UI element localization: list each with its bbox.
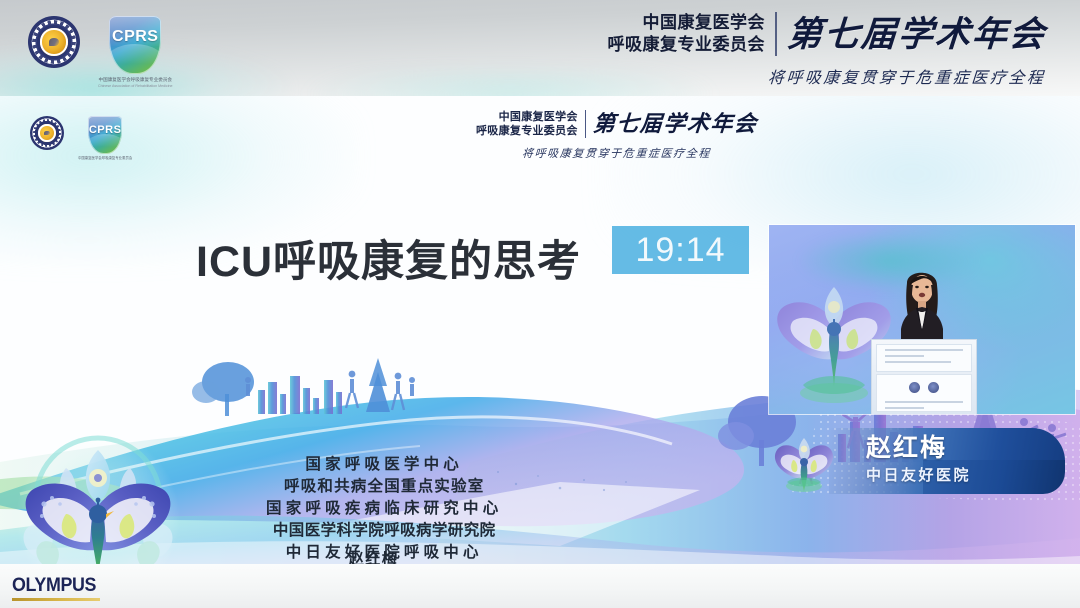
- header-logo-caption: 中国康复医学会呼吸康复专业委员会 Chinese Association of …: [98, 77, 173, 88]
- podium-seal-icon: [928, 382, 939, 393]
- page-header: CPRS 中国康复医学会呼吸康复专业委员会 Chinese Associatio…: [0, 0, 1080, 96]
- podium-text-line: [885, 349, 963, 351]
- live-video-feed[interactable]: [769, 225, 1075, 414]
- conference-divider: [775, 12, 777, 56]
- slide-seal-core: [38, 124, 56, 142]
- time-value: 19:14: [635, 233, 725, 267]
- speaker-badge-peacock-logo: [773, 430, 835, 492]
- slide-conference-lockup: 中国康复医学会 呼吸康复专业委员会 第七届学术年会 将呼吸康复贯穿于危重症医疗全…: [476, 110, 758, 161]
- plume-eye-core: [94, 474, 102, 482]
- tree-canopy-right-2: [718, 422, 754, 450]
- speaker-badge-name: 赵红梅: [866, 436, 947, 461]
- peacock-crest-tip: [96, 498, 101, 503]
- podium-seal-icon: [909, 382, 920, 393]
- conference-main-title: 第七届学术年会: [786, 17, 1047, 52]
- peacock-lotus-logo: [14, 428, 182, 564]
- page-footer: OLYMPUS: [0, 564, 1080, 608]
- olympus-wordmark: OLYMPUS: [12, 576, 96, 595]
- conference-title-row: 中国康复医学会 呼吸康复专业委员会 第七届学术年会: [607, 12, 1046, 56]
- podium-body-panel: [876, 374, 972, 412]
- slide-conference-organization: 中国康复医学会 呼吸康复专业委员会: [476, 110, 578, 139]
- slide-cprs-shield-logo: CPRS: [88, 116, 122, 154]
- olympus-underline-bar: [12, 598, 100, 601]
- podium-text-line: [885, 407, 924, 409]
- affiliation-line: 中国医学科学院呼吸病学研究院: [266, 520, 502, 542]
- header-logo-caption-cn: 中国康复医学会呼吸康复专业委员会: [98, 77, 173, 83]
- conference-organization: 中国康复医学会 呼吸康复专业委员会: [607, 12, 765, 56]
- slide-title: ICU呼吸康复的思考: [196, 241, 581, 284]
- olympus-logo: OLYMPUS: [12, 576, 101, 601]
- podium-text-line: [885, 355, 924, 357]
- conference-org-line-1: 中国康复医学会: [607, 12, 765, 34]
- header-logo-caption-en: Chinese Association of Rehabilitation Me…: [98, 84, 173, 88]
- slide-conference-org-line-2: 呼吸康复专业委员会: [476, 124, 578, 138]
- speaker-badge-organization: 中日友好医院: [866, 468, 971, 483]
- city-skyline-left: [258, 376, 342, 414]
- podium-seal-row: [877, 382, 971, 393]
- affiliation-line: 国家呼吸医学中心: [266, 454, 502, 476]
- tree-canopy-left-2: [192, 381, 220, 403]
- slide-seal-swirl: [44, 131, 50, 136]
- speaker-name-badge: 赵红梅 中日友好医院: [773, 428, 1065, 494]
- affiliation-line: 呼吸和共病全国重点实验室: [266, 476, 502, 498]
- slide-conference-subtitle: 将呼吸康复贯穿于危重症医疗全程: [522, 145, 712, 161]
- cprs-shield-logo: CPRS: [109, 16, 161, 74]
- society-seal-logo: [28, 16, 80, 68]
- affiliation-line: 国家呼吸疾病临床研究中心: [266, 498, 502, 520]
- shield-label: CPRS: [109, 28, 161, 46]
- conference-subtitle: 将呼吸康复贯穿于危重症医疗全程: [607, 64, 1047, 88]
- seal-swirl: [49, 38, 58, 46]
- conifer-left-top: [369, 358, 387, 386]
- podium-text-line: [885, 361, 951, 363]
- slide-conference-title-row: 中国康复医学会 呼吸康复专业委员会 第七届学术年会: [476, 110, 758, 139]
- podium: [871, 339, 977, 414]
- slide-logo-group: CPRS 中国康复医学会呼吸康复专业委员会: [30, 116, 132, 160]
- slide-conference-org-line-1: 中国康复医学会: [476, 110, 578, 124]
- slide-canvas: CPRS 中国康复医学会呼吸康复专业委员会 中国康复医学会 呼吸康复专业委员会 …: [0, 96, 1080, 564]
- time-overlay-badge: 19:14: [612, 226, 749, 274]
- slide-conference-divider: [585, 110, 587, 138]
- slide-shield-wave: [88, 134, 122, 147]
- slide-presenter-name: 赵红梅: [266, 548, 481, 564]
- podium-header-panel: [876, 344, 972, 372]
- speaker-badge-logo-svg: [773, 430, 835, 492]
- tree-trunk-left: [225, 394, 229, 416]
- conference-org-line-2: 呼吸康复专业委员会: [607, 34, 765, 56]
- slide-logo-caption: 中国康复医学会呼吸康复专业委员会: [78, 156, 132, 160]
- podium-text-line: [885, 401, 963, 403]
- seal-core: [40, 28, 67, 55]
- conference-lockup: 中国康复医学会 呼吸康复专业委员会 第七届学术年会 将呼吸康复贯穿于危重症医疗全…: [607, 12, 1046, 88]
- tree-trunk-right: [759, 440, 764, 466]
- slide-conference-main-title: 第七届学术年会: [592, 113, 758, 135]
- presentation-screenshot: CPRS 中国康复医学会呼吸康复专业委员会 Chinese Associatio…: [0, 0, 1080, 608]
- header-logo-group: CPRS 中国康复医学会呼吸康复专业委员会 Chinese Associatio…: [28, 16, 173, 88]
- shield-wave: [109, 44, 161, 64]
- peacock-logo-svg: [14, 428, 182, 564]
- slide-society-seal-logo: [30, 116, 64, 150]
